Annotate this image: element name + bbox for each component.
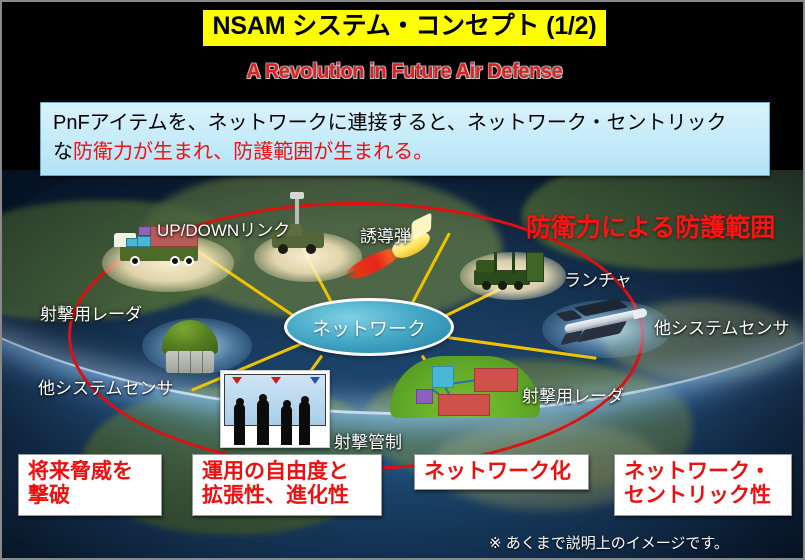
aircraft-shape [550, 291, 653, 354]
intro-text-box: PnFアイテムを、ネットワークに連接すると、ネットワーク・セントリック な防衛力… [40, 102, 770, 176]
label-uplink: UP/DOWNリンク [157, 216, 290, 241]
radome-icon[interactable] [154, 320, 234, 376]
truck-wheel [130, 256, 140, 266]
screen-marker [271, 377, 281, 384]
label-fire-control-radar-left: 射撃用レーダ [40, 300, 142, 325]
label-fire-control: 射撃管制 [334, 428, 402, 453]
intro-line-1: PnFアイテムを、ネットワークに連接すると、ネットワーク・セントリック [53, 109, 757, 138]
operator-head [259, 394, 267, 402]
radome-seam [202, 351, 203, 373]
footnote-text: ※ あくまで説明上のイメージです。 [489, 532, 729, 553]
operator-figure [299, 401, 310, 445]
intro-line-2-black: な [53, 141, 73, 163]
operator-figure [234, 403, 245, 445]
network-hub[interactable]: ネットワーク [284, 298, 454, 356]
operator-head [301, 396, 309, 404]
callout-box-1[interactable]: 将来脅威を 撃破 [18, 454, 162, 516]
operator-figure [257, 399, 269, 445]
radome-shape [162, 320, 218, 354]
control-room-floor [224, 426, 326, 444]
site-equipment-purple [416, 389, 433, 404]
launch-tube [512, 252, 515, 274]
operator-head [283, 400, 291, 408]
site-building [438, 394, 490, 416]
launcher-wheel [498, 281, 507, 290]
screen-marker [310, 377, 320, 384]
truck-wheel [184, 256, 194, 266]
callout-box-4[interactable]: ネットワーク・ セントリック性 [614, 454, 792, 516]
truck-crate [137, 236, 151, 247]
label-missile: 誘導弾 [360, 222, 411, 247]
screen-marker [232, 377, 242, 384]
launcher-wheel [514, 281, 523, 290]
coverage-label: 防衛力による防護範囲 [526, 208, 775, 244]
label-other-sensor-left: 他システムセンサ [38, 374, 174, 399]
title-container: NSAM システム・コンセプト (1/2) [2, 10, 805, 46]
radar-site-icon[interactable] [390, 356, 540, 420]
network-hub-label: ネットワーク [312, 314, 426, 341]
antenna-head [290, 192, 304, 199]
vehicle-wheel [278, 244, 288, 254]
aircraft-icon[interactable] [554, 300, 654, 350]
slide-canvas: NSAM システム・コンセプト (1/2) A Revolution in Fu… [0, 0, 805, 560]
page-title: NSAM システム・コンセプト (1/2) [203, 10, 607, 46]
operator-figure [281, 405, 292, 445]
vehicle-wheel [306, 244, 316, 254]
launcher-cab [476, 260, 496, 272]
launch-tube [494, 252, 497, 274]
site-building [474, 368, 518, 392]
launcher-vehicle-icon[interactable] [468, 248, 560, 298]
label-other-sensor-right: 他システムセンサ [654, 314, 790, 339]
site-equipment-cyan [432, 366, 454, 388]
label-fire-control-radar-right: 射撃用レーダ [522, 382, 624, 407]
page-subtitle: A Revolution in Future Air Defense [26, 60, 783, 84]
operator-head [236, 398, 244, 406]
intro-line-2: な防衛力が生まれ、防護範囲が生まれる。 [53, 138, 757, 167]
radome-seam [178, 351, 179, 373]
intro-line-2-red: 防衛力が生まれ、防護範囲が生まれる。 [73, 141, 433, 163]
aircraft-nose [632, 308, 648, 320]
truck-crate [138, 226, 151, 236]
label-launcher: ランチャ [564, 266, 632, 291]
truck-wheel [170, 256, 180, 266]
launcher-wheel [482, 281, 491, 290]
callout-box-3[interactable]: ネットワーク化 [414, 454, 589, 490]
launcher-rack [526, 252, 544, 282]
radome-seam [190, 351, 191, 373]
callout-box-2[interactable]: 運用の自由度と 拡張性、進化性 [192, 454, 382, 516]
truck-crate [126, 238, 138, 247]
control-room-icon[interactable] [220, 370, 330, 448]
